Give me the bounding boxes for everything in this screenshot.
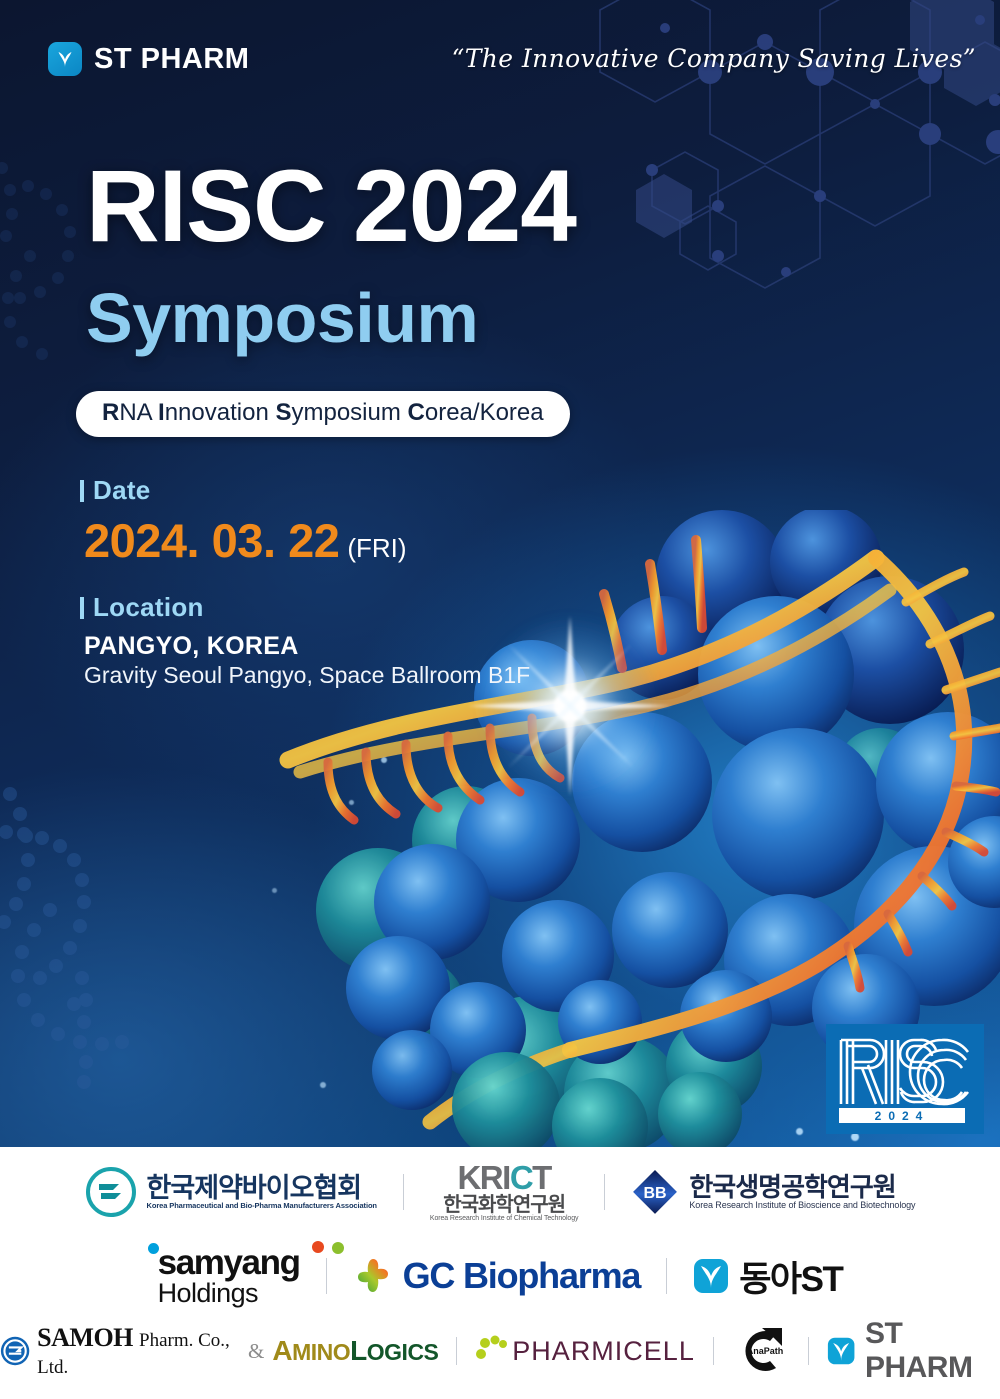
- sponsor-anapath[interactable]: AnaPath: [732, 1326, 790, 1376]
- samoh-emblem-icon: [0, 1334, 30, 1368]
- samyang-dot-blue-icon: [148, 1243, 159, 1254]
- kpbma-emblem-icon: [85, 1166, 137, 1218]
- anapath-name: AnaPath: [746, 1346, 783, 1356]
- kribb-diamond-icon: BB: [631, 1168, 679, 1216]
- date-label: Date: [80, 475, 151, 506]
- pharmicell-dots-icon: [475, 1335, 507, 1367]
- badge-text-nnovation: nnovation: [165, 399, 276, 426]
- samoh-name: SAMOH Pharm. Co., Ltd.: [37, 1323, 240, 1379]
- sponsor-divider: [456, 1337, 457, 1365]
- stpharm-footer-name: ST PHARM: [865, 1317, 1000, 1385]
- krict-name-main: KRICT: [457, 1161, 550, 1195]
- badge-letter-s: S: [275, 399, 291, 426]
- dongast-name: 동아ST: [739, 1251, 842, 1302]
- gc-cross-icon: [353, 1256, 393, 1296]
- badge-text-na: NA: [119, 399, 158, 426]
- brand-name: ST PHARM: [94, 43, 249, 76]
- sponsor-kribb[interactable]: BB 한국생명공학연구원 Korea Research Institute of…: [631, 1168, 915, 1216]
- anapath-c-icon: AnaPath: [732, 1326, 790, 1376]
- sponsor-divider: [808, 1337, 809, 1365]
- amino-mino: MINO: [292, 1339, 350, 1365]
- sponsor-row-1: 한국제약바이오협회 Korea Pharmaceutical and Bio-P…: [0, 1147, 1000, 1237]
- sponsor-dongast[interactable]: 동아ST: [693, 1251, 842, 1302]
- krict-molecule-icon: C: [510, 1159, 532, 1196]
- gc-biopharma-name: GC Biopharma: [403, 1255, 641, 1297]
- label-bar-icon: [80, 597, 84, 619]
- amino-l: L: [350, 1335, 367, 1366]
- badge-text-ymposium: ymposium: [291, 399, 407, 426]
- badge-letter-i: I: [158, 399, 165, 426]
- date-number: 2024. 03. 22: [84, 514, 339, 567]
- samyang-dot-orange-icon: [312, 1241, 324, 1253]
- stpharm-leaf-icon: [48, 42, 82, 76]
- sponsor-aminologics[interactable]: AMINOLOGICS: [272, 1335, 438, 1367]
- sponsor-krict[interactable]: KRICT 한국화학연구원 Korea Research Institute o…: [430, 1161, 578, 1222]
- sponsor-gc-biopharma[interactable]: GC Biopharma: [353, 1255, 641, 1297]
- kpbma-name-kr: 한국제약바이오협회: [147, 1174, 377, 1202]
- krict-name-en: Korea Research Institute of Chemical Tec…: [430, 1215, 578, 1222]
- date-weekday: (FRI): [347, 533, 406, 563]
- sponsor-divider: [713, 1337, 714, 1365]
- sponsor-divider: [326, 1258, 327, 1294]
- stpharm-brand-logo: ST PHARM: [48, 42, 249, 76]
- badge-letter-r: R: [102, 399, 119, 426]
- sponsor-samoh[interactable]: SAMOH Pharm. Co., Ltd.: [0, 1323, 240, 1379]
- sponsor-divider: [666, 1258, 667, 1294]
- risc-event-logo: 2024: [826, 1024, 984, 1134]
- badge-letter-c: C: [408, 399, 425, 426]
- pharmicell-name: PHARMICELL: [512, 1336, 695, 1367]
- dna-helix-decoration-icon: [0, 780, 150, 1110]
- samyang-sub: Holdings: [158, 1281, 300, 1307]
- samyang-name: samyang: [158, 1246, 300, 1279]
- samyang-dot-green-icon: [332, 1242, 344, 1254]
- sponsor-footer: 한국제약바이오협회 Korea Pharmaceutical and Bio-P…: [0, 1147, 1000, 1399]
- dongast-leaf-icon: [693, 1258, 729, 1294]
- location-city: PANGYO, KOREA: [84, 632, 299, 661]
- sponsor-row-2: samyang Holdings GC Biopharma: [0, 1237, 1000, 1315]
- company-tagline: “The Innovative Company Saving Lives”: [452, 44, 976, 73]
- poster-artwork-area: ST PHARM “The Innovative Company Saving …: [0, 0, 1000, 1147]
- sponsor-pharmicell[interactable]: PHARMICELL: [475, 1335, 695, 1367]
- kribb-name-en: Korea Research Institute of Bioscience a…: [689, 1201, 915, 1211]
- location-label-text: Location: [93, 592, 204, 622]
- risc-logo-icon: 2024: [836, 1032, 974, 1126]
- risc-logo-year: 2024: [875, 1109, 930, 1123]
- sponsor-kpbma[interactable]: 한국제약바이오협회 Korea Pharmaceutical and Bio-P…: [85, 1166, 377, 1218]
- sponsor-divider: [403, 1174, 404, 1210]
- amino-a: A: [272, 1335, 292, 1366]
- sponsor-divider: [604, 1174, 605, 1210]
- amino-ogics: OGICS: [367, 1339, 439, 1365]
- stpharm-leaf-icon: [827, 1335, 855, 1367]
- sponsor-row-3: SAMOH Pharm. Co., Ltd. & AMINOLOGICS PHA…: [0, 1315, 1000, 1387]
- label-bar-icon: [80, 480, 84, 502]
- location-venue: Gravity Seoul Pangyo, Space Ballroom B1F: [84, 662, 530, 689]
- page-title: RISC 2024: [86, 155, 576, 257]
- location-label: Location: [80, 592, 204, 623]
- kpbma-name-en: Korea Pharmaceutical and Bio-Pharma Manu…: [147, 1202, 377, 1210]
- date-value: 2024. 03. 22(FRI): [84, 513, 407, 568]
- badge-text-orea: orea/Korea: [425, 399, 544, 426]
- poster-root: ST PHARM “The Innovative Company Saving …: [0, 0, 1000, 1399]
- samoh-name-bold: SAMOH: [37, 1323, 133, 1352]
- sponsor-ampersand: &: [248, 1339, 264, 1364]
- date-label-text: Date: [93, 475, 151, 505]
- sponsor-stpharm[interactable]: ST PHARM: [827, 1317, 1000, 1385]
- svg-text:BB: BB: [644, 1185, 667, 1202]
- sponsor-samyang[interactable]: samyang Holdings: [158, 1246, 300, 1307]
- full-name-badge: RNA Innovation Symposium Corea/Korea: [76, 391, 570, 437]
- kribb-name-kr: 한국생명공학연구원: [689, 1173, 915, 1202]
- page-subtitle: Symposium: [86, 283, 478, 353]
- krict-name-kr: 한국화학연구원: [443, 1195, 565, 1215]
